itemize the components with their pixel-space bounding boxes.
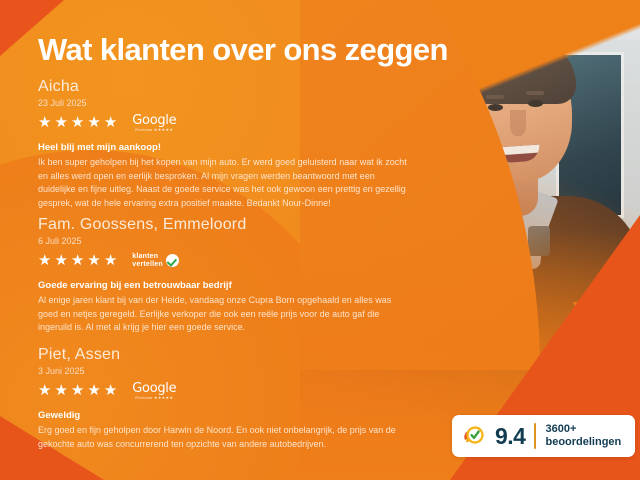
review-title: Heel blij met mijn aankoop! bbox=[38, 142, 408, 153]
rating-count-number: 3600+ bbox=[545, 423, 621, 436]
star-icon: ★ bbox=[104, 115, 118, 130]
checkmark-icon bbox=[166, 254, 179, 267]
klantenvertellen-check-icon bbox=[462, 424, 486, 448]
star-icon: ★ bbox=[71, 253, 85, 268]
rating-count: 3600+ beoordelingen bbox=[545, 423, 621, 448]
star-icon: ★ bbox=[54, 383, 68, 398]
google-reviews-sublabel: Reviews ★★★★★ bbox=[135, 128, 173, 132]
review-title: Geweldig bbox=[38, 410, 408, 421]
star-icon: ★ bbox=[38, 253, 52, 268]
review-body: Al enige jaren klant bij van der Heide, … bbox=[38, 294, 408, 336]
google-reviews-logo: Google Reviews ★★★★★ bbox=[132, 382, 176, 400]
rating-badge[interactable]: 9.4 3600+ beoordelingen bbox=[452, 415, 635, 457]
review-author: Aicha bbox=[38, 78, 408, 96]
review-rating-row: ★ ★ ★ ★ ★ klanten vertellen bbox=[38, 250, 408, 272]
review-card-3: Piet, Assen 3 Juni 2025 ★ ★ ★ ★ ★ Google… bbox=[38, 346, 408, 451]
review-date: 6 Juli 2025 bbox=[38, 236, 408, 246]
review-author: Fam. Goossens, Emmeloord bbox=[38, 216, 408, 234]
star-icon: ★ bbox=[104, 253, 118, 268]
review-title: Goede ervaring bij een betrouwbaar bedri… bbox=[38, 280, 408, 291]
star-icon: ★ bbox=[87, 383, 101, 398]
google-wordmark: Google bbox=[132, 382, 176, 395]
star-icon: ★ bbox=[38, 115, 52, 130]
star-icon: ★ bbox=[38, 383, 52, 398]
review-card-2: Fam. Goossens, Emmeloord 6 Juli 2025 ★ ★… bbox=[38, 216, 408, 335]
review-date: 3 Juni 2025 bbox=[38, 366, 408, 376]
rating-score: 9.4 bbox=[495, 423, 525, 450]
review-card-1: Aicha 23 Juli 2025 ★ ★ ★ ★ ★ Google Revi… bbox=[38, 78, 408, 211]
klantenvertellen-line-1: klanten bbox=[132, 253, 163, 260]
page-title: Wat klanten over ons zeggen bbox=[38, 32, 448, 68]
google-wordmark: Google bbox=[132, 114, 176, 127]
review-date: 23 Juli 2025 bbox=[38, 98, 408, 108]
badge-divider bbox=[534, 423, 536, 449]
review-rating-row: ★ ★ ★ ★ ★ Google Reviews ★★★★★ bbox=[38, 112, 408, 134]
star-icon: ★ bbox=[104, 383, 118, 398]
review-body: Erg goed en fijn geholpen door Harwin de… bbox=[38, 424, 408, 452]
star-icon: ★ bbox=[71, 115, 85, 130]
star-rating: ★ ★ ★ ★ ★ bbox=[38, 383, 118, 398]
star-icon: ★ bbox=[71, 383, 85, 398]
star-rating: ★ ★ ★ ★ ★ bbox=[38, 115, 118, 130]
google-reviews-sublabel: Reviews ★★★★★ bbox=[135, 396, 173, 400]
review-body: Ik ben super geholpen bij het kopen van … bbox=[38, 156, 408, 212]
klantenvertellen-line-2: vertellen bbox=[132, 261, 163, 268]
review-rating-row: ★ ★ ★ ★ ★ Google Reviews ★★★★★ bbox=[38, 380, 408, 402]
rating-count-label: beoordelingen bbox=[545, 436, 621, 449]
star-rating: ★ ★ ★ ★ ★ bbox=[38, 253, 118, 268]
star-icon: ★ bbox=[54, 253, 68, 268]
google-reviews-logo: Google Reviews ★★★★★ bbox=[132, 114, 176, 132]
star-icon: ★ bbox=[87, 253, 101, 268]
review-author: Piet, Assen bbox=[38, 346, 408, 364]
reviews-content: Wat klanten over ons zeggen Aicha 23 Jul… bbox=[0, 0, 420, 480]
star-icon: ★ bbox=[87, 115, 101, 130]
star-icon: ★ bbox=[54, 115, 68, 130]
klantenvertellen-logo: klanten vertellen bbox=[132, 253, 179, 268]
klantenvertellen-wordmark: klanten vertellen bbox=[132, 253, 163, 268]
review-banner: Wat klanten over ons zeggen Aicha 23 Jul… bbox=[0, 0, 640, 480]
